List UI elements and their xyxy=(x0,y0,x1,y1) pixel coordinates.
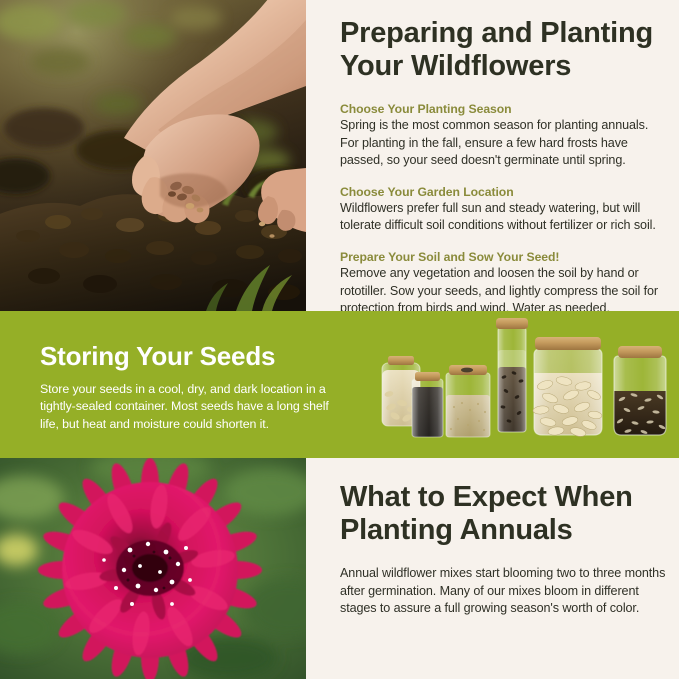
bottom-text-column: What to Expect When Planting Annuals Ann… xyxy=(340,458,670,679)
body-prepare-soil: Remove any vegetation and loosen the soi… xyxy=(340,265,670,318)
hands-planting-seeds-in-soil-photo xyxy=(0,0,306,311)
body-planting-season: Spring is the most common season for pla… xyxy=(340,117,670,170)
subheading-planting-season: Choose Your Planting Season xyxy=(340,101,670,117)
top-text-column: Preparing and Planting Your Wildflowers … xyxy=(340,0,670,311)
section-what-to-expect: What to Expect When Planting Annuals Ann… xyxy=(0,458,679,679)
section-title-storing-seeds: Storing Your Seeds xyxy=(40,341,275,371)
page-title-preparing: Preparing and Planting Your Wildflowers xyxy=(340,0,670,83)
topic-block-prepare-soil: Prepare Your Soil and Sow Your Seed! Rem… xyxy=(340,249,670,318)
topic-block-planting-season: Choose Your Planting Season Spring is th… xyxy=(340,101,670,170)
subheading-garden-location: Choose Your Garden Location xyxy=(340,184,670,200)
body-garden-location: Wildflowers prefer full sun and steady w… xyxy=(340,200,670,235)
infographic-page: Preparing and Planting Your Wildflowers … xyxy=(0,0,679,679)
page-title-what-to-expect: What to Expect When Planting Annuals xyxy=(340,458,670,547)
glass-jars-of-seeds-photo xyxy=(378,315,676,455)
pink-cornflower-bloom-photo xyxy=(0,458,306,679)
section-storing-your-seeds: Storing Your Seeds Store your seeds in a… xyxy=(0,311,679,458)
body-what-to-expect: Annual wildflower mixes start blooming t… xyxy=(340,565,670,618)
body-storing-seeds: Store your seeds in a cool, dry, and dar… xyxy=(40,381,330,433)
topic-block-garden-location: Choose Your Garden Location Wildflowers … xyxy=(340,184,670,235)
subheading-prepare-soil: Prepare Your Soil and Sow Your Seed! xyxy=(340,249,670,265)
section-preparing-and-planting: Preparing and Planting Your Wildflowers … xyxy=(0,0,679,311)
